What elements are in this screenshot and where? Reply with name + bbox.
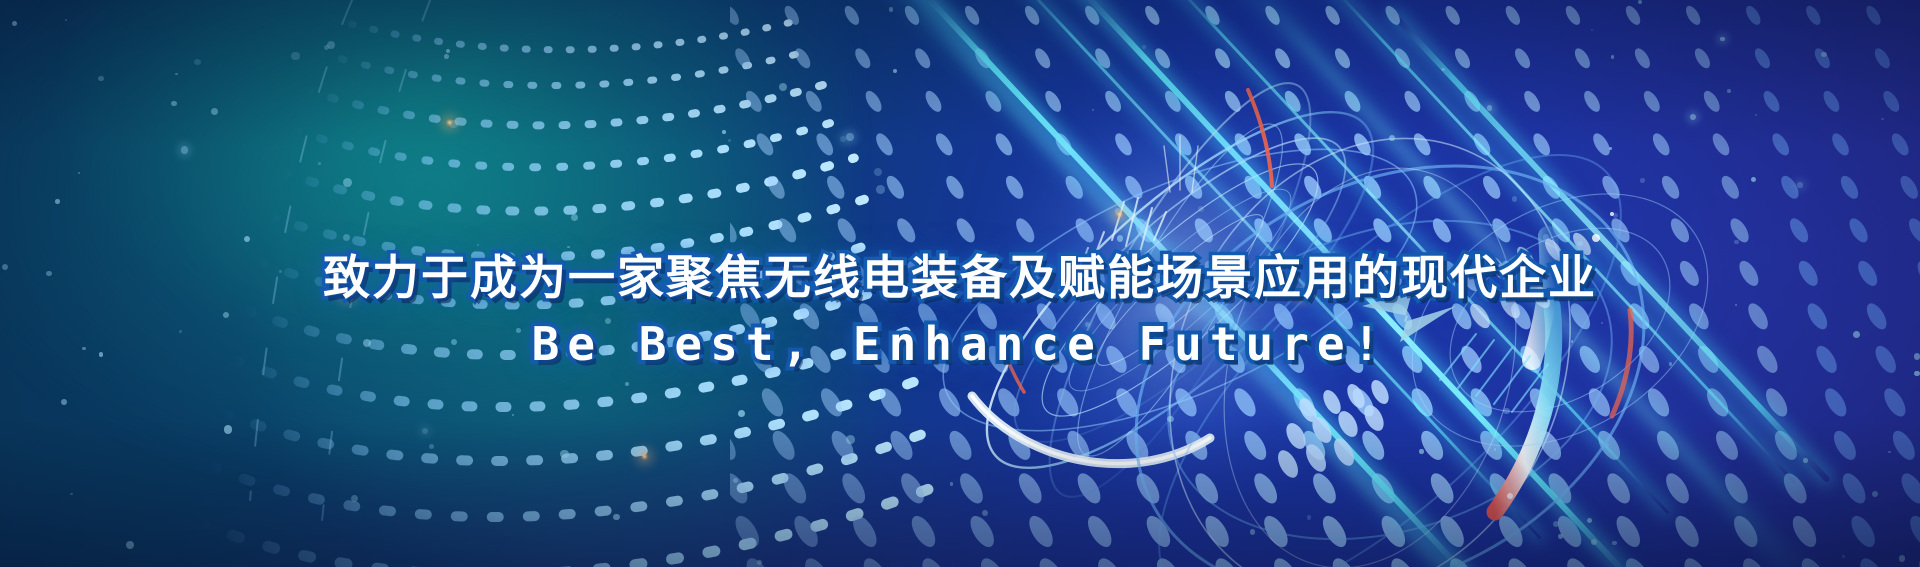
vignette-overlay xyxy=(0,0,1920,567)
hero-banner: 致力于成为一家聚焦无线电装备及赋能场景应用的现代企业 Be Best, Enha… xyxy=(0,0,1920,567)
